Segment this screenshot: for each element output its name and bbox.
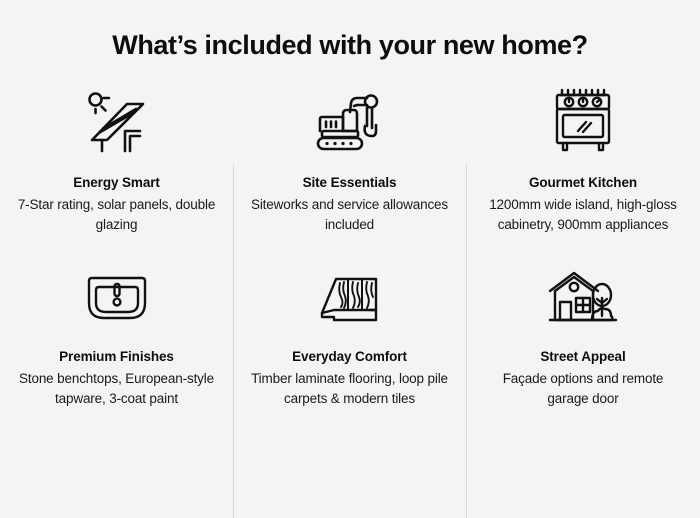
inclusions-page: What’s included with your new home? bbox=[0, 0, 700, 492]
inclusion-card-everyday-comfort: Everyday Comfort Timber laminate floorin… bbox=[233, 262, 466, 430]
inclusion-card-site-essentials: Site Essentials Siteworks and service al… bbox=[233, 76, 466, 262]
card-title: Street Appeal bbox=[540, 348, 625, 366]
card-description: Façade options and remote garage door bbox=[481, 369, 686, 409]
page-title: What’s included with your new home? bbox=[0, 0, 700, 62]
card-description: Siteworks and service allowances include… bbox=[247, 195, 452, 235]
card-description: 7-Star rating, solar panels, double glaz… bbox=[14, 195, 219, 235]
inclusion-card-premium-finishes: Premium Finishes Stone benchtops, Europe… bbox=[0, 262, 233, 430]
inclusion-card-energy-smart: Energy Smart 7-Star rating, solar panels… bbox=[0, 76, 233, 262]
card-title: Premium Finishes bbox=[59, 348, 174, 366]
excavator-icon bbox=[310, 82, 390, 158]
timber-flooring-icon bbox=[318, 264, 382, 334]
solar-panel-icon bbox=[78, 82, 156, 158]
house-tree-icon bbox=[547, 264, 619, 334]
inclusions-grid: Energy Smart 7-Star rating, solar panels… bbox=[0, 76, 700, 430]
card-description: 1200mm wide island, high-gloss cabinetry… bbox=[481, 195, 686, 235]
card-title: Energy Smart bbox=[73, 174, 160, 192]
oven-range-icon bbox=[552, 82, 614, 158]
inclusion-card-gourmet-kitchen: Gourmet Kitchen 1200mm wide island, high… bbox=[466, 76, 700, 262]
card-title: Site Essentials bbox=[303, 174, 397, 192]
card-description: Stone benchtops, European-style tapware,… bbox=[14, 369, 219, 409]
basin-sink-icon bbox=[83, 264, 151, 334]
inclusion-card-street-appeal: Street Appeal Façade options and remote … bbox=[466, 262, 700, 430]
card-description: Timber laminate flooring, loop pile carp… bbox=[247, 369, 452, 409]
card-title: Gourmet Kitchen bbox=[529, 174, 637, 192]
card-title: Everyday Comfort bbox=[292, 348, 407, 366]
